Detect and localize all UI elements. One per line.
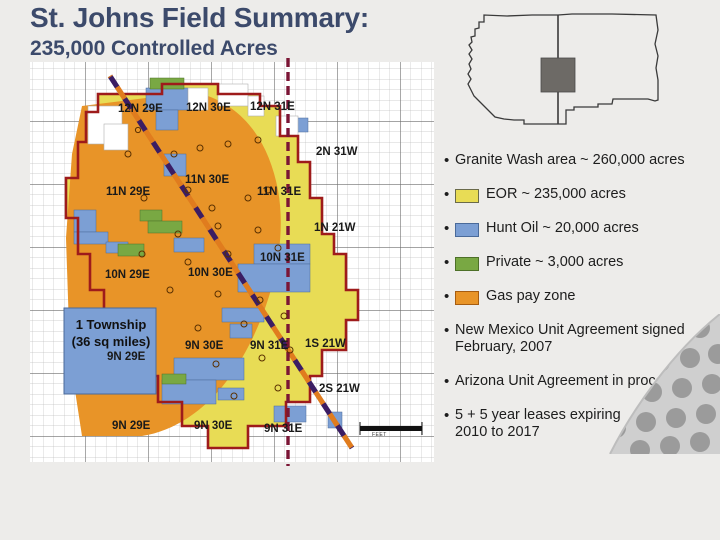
township-label: 1S 21W xyxy=(305,337,346,351)
bullet-hunt-oil: • Hunt Oil ~ 20,000 acres xyxy=(444,220,720,237)
bullet-label: Hunt Oil ~ 20,000 acres xyxy=(486,220,720,237)
township-label: 2S 21W xyxy=(319,382,360,396)
township-label: 9N 30E xyxy=(185,339,223,353)
bullet-eor: • EOR ~ 235,000 acres xyxy=(444,186,720,203)
township-label: 10N 30E xyxy=(188,266,233,280)
private-color-swatch xyxy=(455,257,479,271)
bullet-marker: • xyxy=(444,288,455,305)
slide-title: St. Johns Field Summary: 235,000 Control… xyxy=(30,2,450,62)
township-label: 9N 31E xyxy=(250,339,288,353)
gas-pay-zone-color-swatch xyxy=(455,291,479,305)
corner-dots-svg xyxy=(600,314,720,454)
main-field-map: 12N 29E 12N 30E 12N 31E 2N 31W 11N 29E 1… xyxy=(22,58,442,468)
township-label: 11N 30E xyxy=(185,173,229,187)
township-label: 10N 31E xyxy=(260,251,305,265)
title-line-1: St. Johns Field Summary: xyxy=(30,2,450,34)
slide-root: St. Johns Field Summary: 235,000 Control… xyxy=(0,0,720,540)
bullet-label: EOR ~ 235,000 acres xyxy=(486,186,720,203)
bullet-marker: • xyxy=(444,152,455,169)
township-label: 9N 31E xyxy=(264,422,302,436)
inset-map-svg xyxy=(462,6,697,141)
township-label: 1N 21W xyxy=(314,221,356,235)
township-label: 11N 31E xyxy=(257,185,301,199)
bullet-marker: • xyxy=(444,373,455,390)
bullet-marker: • xyxy=(444,186,455,203)
inset-locator-map xyxy=(462,6,697,141)
bullet-marker: • xyxy=(444,254,455,271)
township-label: 9N 29E xyxy=(107,350,145,364)
one-township-callout: 1 Township (36 sq miles) xyxy=(64,316,158,350)
township-label: 9N 29E xyxy=(112,419,150,433)
bullet-marker: • xyxy=(444,407,455,424)
bullet-label: Granite Wash area ~ 260,000 acres xyxy=(455,152,720,169)
field-location-highlight xyxy=(541,58,575,92)
corner-dot-decoration xyxy=(600,314,720,454)
township-label: 11N 29E xyxy=(106,185,150,199)
bullet-marker: • xyxy=(444,220,455,237)
scale-bar-label: FEET xyxy=(372,432,387,438)
field-map-svg xyxy=(22,58,442,468)
dot-cluster xyxy=(600,314,720,454)
bullet-private: • Private ~ 3,000 acres xyxy=(444,254,720,271)
one-township-line-2: (36 sq miles) xyxy=(64,333,158,350)
township-label: 12N 31E xyxy=(250,100,295,114)
township-label: 2N 31W xyxy=(316,145,358,159)
hunt-oil-color-swatch xyxy=(455,223,479,237)
one-township-line-1: 1 Township xyxy=(64,316,158,333)
bullet-granite-wash: • Granite Wash area ~ 260,000 acres xyxy=(444,152,720,169)
eor-color-swatch xyxy=(455,189,479,203)
bullet-gas-pay-zone: • Gas pay zone xyxy=(444,288,720,305)
township-label: 10N 29E xyxy=(105,268,150,282)
bullet-marker: • xyxy=(444,322,455,339)
bullet-label: Private ~ 3,000 acres xyxy=(486,254,720,271)
township-label: 12N 30E xyxy=(186,101,231,115)
bullet-label: Gas pay zone xyxy=(486,288,720,305)
township-label: 9N 30E xyxy=(194,419,232,433)
township-label: 12N 29E xyxy=(118,102,163,116)
